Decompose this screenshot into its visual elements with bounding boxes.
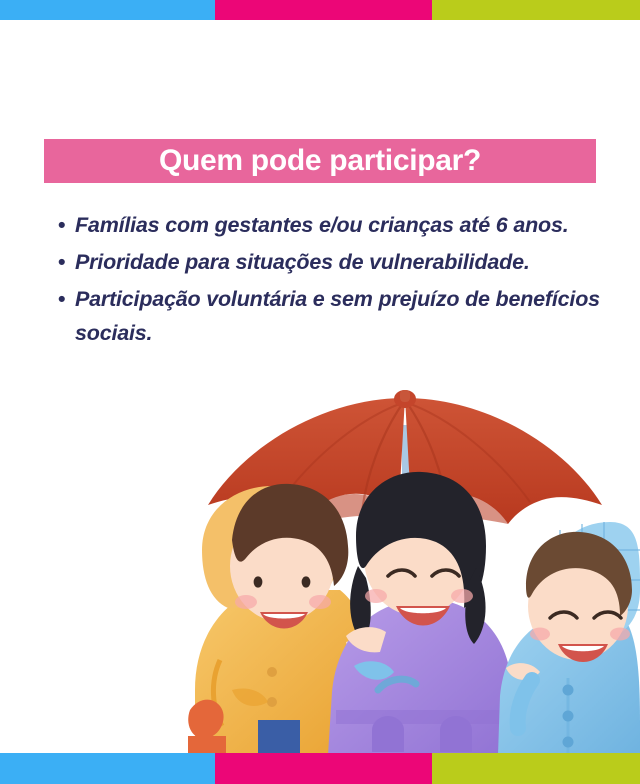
list-item-text: Prioridade para situações de vulnerabili…: [75, 245, 603, 280]
bottom-color-bar: [0, 753, 640, 784]
eligibility-list: • Famílias com gestantes e/ou crianças a…: [58, 208, 603, 353]
children-umbrella-illustration: [150, 390, 640, 755]
title-banner: Quem pode participar?: [44, 139, 596, 183]
bullet-point-icon: •: [58, 208, 75, 243]
list-item: • Famílias com gestantes e/ou crianças a…: [58, 208, 603, 243]
top-bar-segment-blue: [0, 0, 215, 20]
top-color-bar: [0, 0, 640, 20]
bottom-bar-segment-pink: [215, 753, 432, 784]
bottom-bar-segment-blue: [0, 753, 215, 784]
list-item-text: Famílias com gestantes e/ou crianças até…: [75, 208, 603, 243]
bottom-bar-segment-green: [432, 753, 640, 784]
list-item-text: Participação voluntária e sem prejuízo d…: [75, 282, 603, 352]
list-item: • Participação voluntária e sem prejuízo…: [58, 282, 603, 352]
top-bar-segment-green: [432, 0, 640, 20]
child-blue-raincoat: [498, 522, 640, 755]
page-title: Quem pode participar?: [159, 146, 481, 176]
list-item: • Prioridade para situações de vulnerabi…: [58, 245, 603, 280]
bullet-point-icon: •: [58, 245, 75, 280]
top-bar-segment-pink: [215, 0, 432, 20]
bullet-point-icon: •: [58, 282, 75, 317]
